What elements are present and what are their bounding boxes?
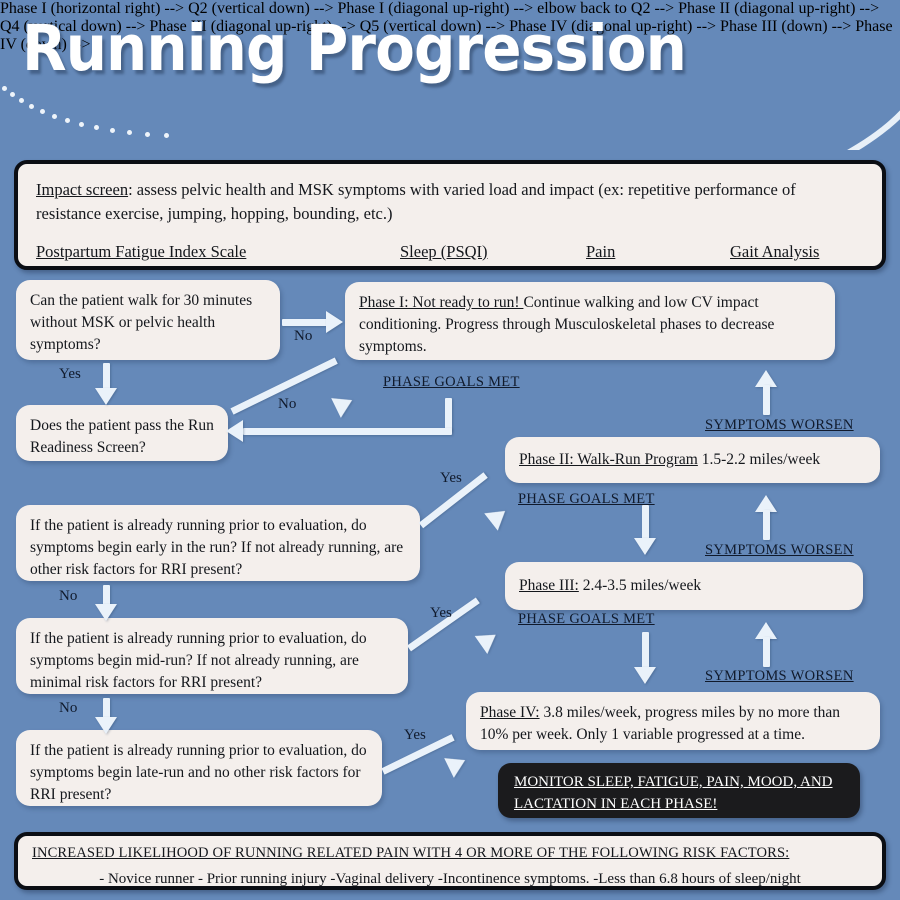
question-box-walk-30-minutes: Can the patient walk for 30 minutes with… xyxy=(16,280,280,360)
arrow-q3-no-to-q4 xyxy=(95,585,119,621)
risk-factors-banner: INCREASED LIKELIHOOD OF RUNNING RELATED … xyxy=(14,832,886,890)
edge-label-phase-goals-met-1: PHASE GOALS MET xyxy=(383,374,520,391)
edge-label-yes-q5: Yes xyxy=(404,727,426,744)
edge-label-symptoms-worsen-1: SYMPTOMS WORSEN xyxy=(705,417,854,434)
question-text: Can the patient walk for 30 minutes with… xyxy=(30,292,252,353)
risk-factors-list: - Novice runner - Prior running injury -… xyxy=(32,869,868,890)
question-box-mid-run-symptoms: If the patient is already running prior … xyxy=(16,618,408,694)
impact-screen-box: Impact screen: assess pelvic health and … xyxy=(14,160,886,270)
measure-pain: Pain xyxy=(586,240,615,263)
arrow-phase4-symptoms-worsen-to-phase3 xyxy=(755,622,779,670)
question-box-run-readiness-screen: Does the patient pass the Run Readiness … xyxy=(16,405,228,461)
arrow-phase3-goals-met-to-phase4 xyxy=(634,632,658,688)
measure-sleep-psqi: Sleep (PSQI) xyxy=(400,240,488,263)
impact-screen-paragraph: Impact screen: assess pelvic health and … xyxy=(36,178,864,226)
phase-2-text: 1.5-2.2 miles/week xyxy=(698,451,820,468)
measure-gait-analysis: Gait Analysis xyxy=(730,240,819,263)
phase-1-box: Phase I: Not ready to run! Continue walk… xyxy=(345,282,835,360)
phase-2-box: Phase II: Walk-Run Program 1.5-2.2 miles… xyxy=(505,437,880,483)
question-text: If the patient is already running prior … xyxy=(30,630,367,691)
edge-label-no-q1: No xyxy=(294,328,312,345)
phase-2-label: Phase II: Walk-Run Program xyxy=(519,451,698,468)
edge-label-phase-goals-met-2: PHASE GOALS MET xyxy=(518,491,655,508)
edge-label-no-q3: No xyxy=(59,588,77,605)
page-title: Running Progression xyxy=(22,12,686,85)
question-text: If the patient is already running prior … xyxy=(30,742,367,803)
arrow-q1-yes-to-q2 xyxy=(95,363,119,405)
header-banner: Running Progression xyxy=(0,0,900,150)
phase-3-label: Phase III: xyxy=(519,577,579,594)
edge-label-symptoms-worsen-3: SYMPTOMS WORSEN xyxy=(705,668,854,685)
edge-label-yes-q3: Yes xyxy=(440,470,462,487)
arrow-q1-no-to-phase1 xyxy=(282,311,344,333)
edge-label-no-q4: No xyxy=(59,700,77,717)
edge-label-symptoms-worsen-2: SYMPTOMS WORSEN xyxy=(705,542,854,559)
measure-postpartum-fatigue-index-scale: Postpartum Fatigue Index Scale xyxy=(36,240,246,263)
phase-4-label: Phase IV: xyxy=(480,704,540,721)
question-box-early-run-symptoms: If the patient is already running prior … xyxy=(16,505,420,581)
arrow-phase3-symptoms-worsen-to-phase2 xyxy=(755,495,779,543)
arrow-q4-no-to-q5 xyxy=(95,698,119,734)
question-text: If the patient is already running prior … xyxy=(30,517,403,578)
question-box-late-run-symptoms: If the patient is already running prior … xyxy=(16,730,382,806)
arrow-phase2-goals-met-to-phase3 xyxy=(634,505,658,557)
phase-4-box: Phase IV: 3.8 miles/week, progress miles… xyxy=(466,692,880,750)
question-text: Does the patient pass the Run Readiness … xyxy=(30,417,214,456)
monitor-banner: MONITOR SLEEP, FATIGUE, PAIN, MOOD, AND … xyxy=(498,763,860,818)
edge-label-phase-goals-met-3: PHASE GOALS MET xyxy=(518,611,655,628)
monitor-banner-text: MONITOR SLEEP, FATIGUE, PAIN, MOOD, AND … xyxy=(514,774,833,812)
phase-1-label: Phase I: Not ready to run! xyxy=(359,294,523,311)
phase-3-box: Phase III: 2.4-3.5 miles/week xyxy=(505,562,863,610)
impact-screen-text: : assess pelvic health and MSK symptoms … xyxy=(36,180,796,223)
edge-label-yes-q4: Yes xyxy=(430,605,452,622)
risk-factors-heading: INCREASED LIKELIHOOD OF RUNNING RELATED … xyxy=(32,843,868,864)
decorative-dot-arc xyxy=(0,86,330,148)
infographic-canvas: Running Progression Impact screen: asses… xyxy=(0,0,900,900)
phase-3-text: 2.4-3.5 miles/week xyxy=(579,577,701,594)
impact-screen-label: Impact screen xyxy=(36,180,128,199)
arrow-phase2-symptoms-worsen-to-phase1 xyxy=(755,370,779,418)
edge-label-yes-q1: Yes xyxy=(59,366,81,383)
arrow-phase1-goals-met-to-q2 xyxy=(226,398,456,448)
